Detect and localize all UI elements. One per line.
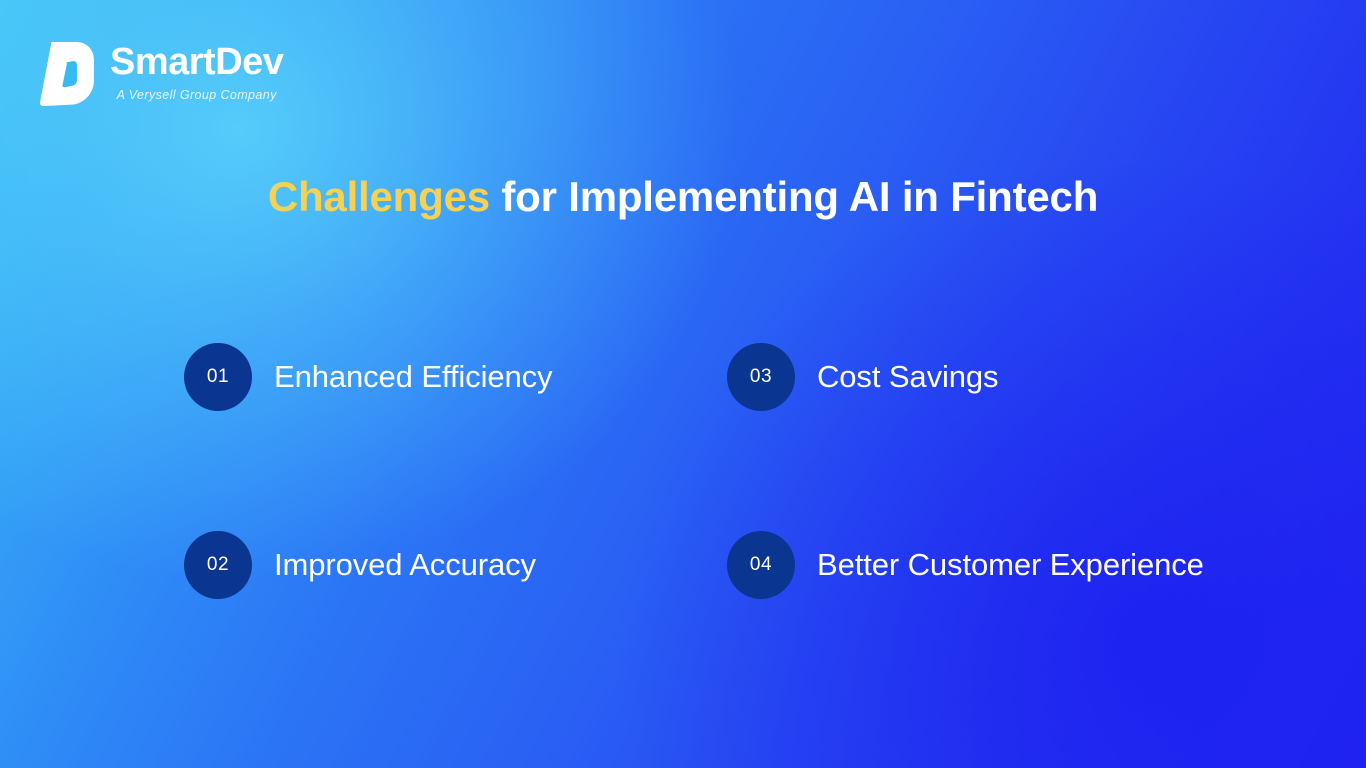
brand-tagline: A Verysell Group Company	[110, 88, 283, 102]
item-number-badge: 01	[184, 343, 252, 411]
brand-logo: SmartDev A Verysell Group Company	[38, 40, 283, 108]
brand-text-block: SmartDev A Verysell Group Company	[110, 40, 283, 102]
list-item[interactable]: 03 Cost Savings	[727, 343, 1270, 411]
page-title-rest: for Implementing AI in Fintech	[490, 173, 1098, 220]
slide-canvas: SmartDev A Verysell Group Company Challe…	[0, 0, 1366, 768]
challenge-list: 01 Enhanced Efficiency 03 Cost Savings 0…	[184, 343, 1284, 599]
item-label: Cost Savings	[817, 360, 998, 394]
item-number-badge: 02	[184, 531, 252, 599]
list-item[interactable]: 02 Improved Accuracy	[184, 531, 727, 599]
smartdev-d-logo-icon	[38, 40, 96, 108]
item-number-badge: 04	[727, 531, 795, 599]
list-item[interactable]: 01 Enhanced Efficiency	[184, 343, 727, 411]
item-number-badge: 03	[727, 343, 795, 411]
page-title-accent: Challenges	[268, 173, 490, 220]
item-label: Enhanced Efficiency	[274, 360, 552, 394]
list-item[interactable]: 04 Better Customer Experience	[727, 531, 1270, 599]
page-title: Challenges for Implementing AI in Fintec…	[0, 172, 1366, 222]
item-label: Better Customer Experience	[817, 548, 1204, 582]
brand-name: SmartDev	[110, 43, 283, 83]
item-label: Improved Accuracy	[274, 548, 536, 582]
